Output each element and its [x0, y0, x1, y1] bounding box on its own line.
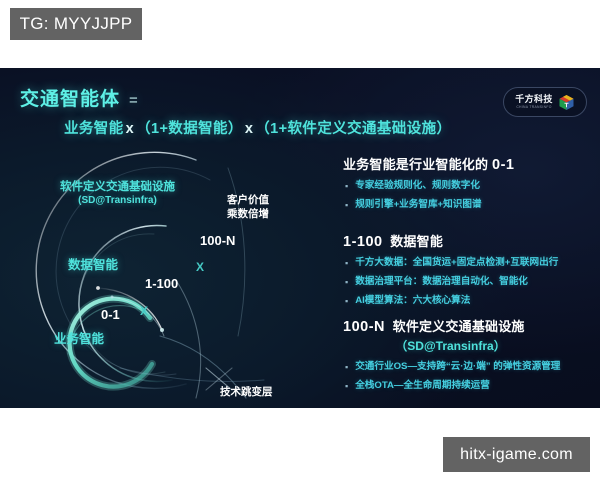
bullet-text: AI模型算法：六大核心算法: [355, 295, 470, 307]
orbit-ring-inner: [68, 299, 152, 387]
bullet-dot-icon: ▪: [343, 295, 348, 308]
bullet-dot-icon: ▪: [343, 276, 348, 289]
top-watermark-tag: TG: MYYJJPP: [10, 8, 142, 40]
section-heading-text: 业务智能是行业智能化的: [343, 157, 488, 172]
bullet-text: 规则引擎+业务智库+知识图谱: [355, 199, 481, 211]
section-bullets: ▪ 千方大数据：全国货运+固定点检测+互联网出行 ▪ 数据治理平台：数据治理自动…: [343, 257, 593, 308]
section-heading: 业务智能是行业智能化的 0-1: [343, 154, 593, 173]
bottom-watermark-tag: hitx-igame.com: [443, 437, 590, 472]
bullet-text: 数据治理平台：数据治理自动化、智能化: [355, 276, 528, 288]
orbital-diagram: 软件定义交通基础设施 (SD@Transinfra) 数据智能 业务智能 客户价…: [0, 68, 330, 408]
content-column: 业务智能是行业智能化的 0-1 ▪ 专家经验规则化、规则数字化 ▪ 规则引擎+业…: [343, 68, 593, 408]
bullet-text: 千方大数据：全国货运+固定点检测+互联网出行: [355, 257, 558, 269]
bullet-item: ▪ 专家经验规则化、规则数字化: [343, 180, 593, 193]
section-heading-text: 软件定义交通基础设施: [393, 319, 525, 334]
section-business-intelligence: 业务智能是行业智能化的 0-1 ▪ 专家经验规则化、规则数字化 ▪ 规则引擎+业…: [343, 154, 593, 218]
bullet-item: ▪ 规则引擎+业务智库+知识图谱: [343, 199, 593, 212]
section-bullets: ▪ 交通行业OS—支持跨“云·边·端” 的弹性资源管理 ▪ 全栈OTA—全生命周…: [343, 361, 593, 393]
bullet-dot-icon: ▪: [343, 180, 348, 193]
section-software-defined-infra: 100-N 软件定义交通基础设施 （SD@Transinfra） ▪ 交通行业O…: [343, 316, 593, 399]
section-range: 100-N: [343, 319, 385, 335]
section-subtitle: （SD@Transinfra）: [343, 337, 558, 354]
section-bullets: ▪ 专家经验规则化、规则数字化 ▪ 规则引擎+业务智库+知识图谱: [343, 180, 593, 212]
orbital-diagram-svg: [0, 68, 330, 408]
bullet-text: 全栈OTA—全生命周期持续运营: [355, 380, 490, 392]
bullet-text: 专家经验规则化、规则数字化: [355, 180, 480, 192]
bullet-item: ▪ 全栈OTA—全生命周期持续运营: [343, 380, 593, 393]
section-range: 1-100: [343, 234, 383, 250]
section-range: 0-1: [492, 157, 514, 173]
bullet-item: ▪ AI模型算法：六大核心算法: [343, 295, 593, 308]
trajectory-curves: [120, 168, 264, 398]
bullet-item: ▪ 千方大数据：全国货运+固定点检测+互联网出行: [343, 257, 593, 270]
bullet-text: 交通行业OS—支持跨“云·边·端” 的弹性资源管理: [355, 361, 560, 373]
section-heading-text: 数据智能: [390, 234, 443, 249]
section-data-intelligence: 1-100 数据智能 ▪ 千方大数据：全国货运+固定点检测+互联网出行 ▪ 数据…: [343, 231, 593, 314]
bullet-dot-icon: ▪: [343, 257, 348, 270]
section-heading: 1-100 数据智能: [343, 231, 593, 250]
bullet-item: ▪ 数据治理平台：数据治理自动化、智能化: [343, 276, 593, 289]
orbit-ring-outer: [36, 152, 210, 388]
growth-arrows: [96, 286, 164, 336]
bullet-item: ▪ 交通行业OS—支持跨“云·边·端” 的弹性资源管理: [343, 361, 593, 374]
section-heading: 100-N 软件定义交通基础设施: [343, 316, 593, 335]
bullet-dot-icon: ▪: [343, 380, 348, 393]
slide-panel: 交通智能体 = 业务智能x（1+数据智能）x（1+软件定义交通基础设施） 千方科…: [0, 68, 600, 408]
bullet-dot-icon: ▪: [343, 361, 348, 374]
bullet-dot-icon: ▪: [343, 199, 348, 212]
